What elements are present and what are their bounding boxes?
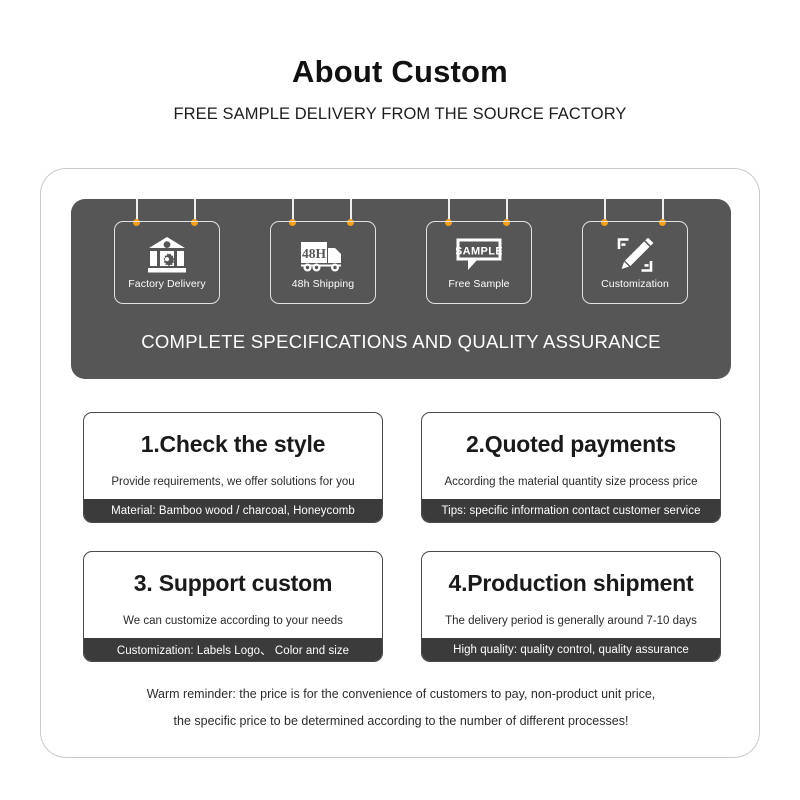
step-card-4[interactable]: 4.Production shipment The delivery perio… bbox=[421, 551, 721, 662]
step-description: The delivery period is generally around … bbox=[422, 608, 720, 638]
factory-building-gear-icon bbox=[144, 234, 190, 276]
feature-label: 48h Shipping bbox=[292, 278, 355, 290]
feature-card: 48H bbox=[270, 221, 376, 304]
step-title: 2.Quoted payments bbox=[422, 413, 720, 469]
step-card-3[interactable]: 3. Support custom We can customize accor… bbox=[83, 551, 383, 662]
feature-card: Customization bbox=[582, 221, 688, 304]
step-description: We can customize according to your needs bbox=[84, 608, 382, 638]
step-title: 4.Production shipment bbox=[422, 552, 720, 608]
svg-text:SAMPLE: SAMPLE bbox=[456, 246, 502, 258]
step-footer: Material: Bamboo wood / charcoal, Honeyc… bbox=[84, 499, 382, 522]
reminder-line-1: Warm reminder: the price is for the conv… bbox=[41, 681, 761, 708]
step-title: 3. Support custom bbox=[84, 552, 382, 608]
about-custom-infographic: About Custom FREE SAMPLE DELIVERY FROM T… bbox=[0, 0, 800, 800]
feature-card: Factory Delivery bbox=[114, 221, 220, 304]
feature-item-factory-delivery: Factory Delivery bbox=[114, 199, 220, 304]
feature-item-free-sample: SAMPLE Free Sample bbox=[426, 199, 532, 304]
reminder-line-2: the specific price to be determined acco… bbox=[41, 708, 761, 735]
banner-tagline: COMPLETE SPECIFICATIONS AND QUALITY ASSU… bbox=[71, 331, 731, 353]
feature-item-customization: Customization bbox=[582, 199, 688, 304]
page-title: About Custom bbox=[0, 54, 800, 90]
step-footer: Tips: specific information contact custo… bbox=[422, 499, 720, 522]
feature-label: Free Sample bbox=[448, 278, 509, 290]
step-card-1[interactable]: 1.Check the style Provide requirements, … bbox=[83, 412, 383, 523]
page-subtitle: FREE SAMPLE DELIVERY FROM THE SOURCE FAC… bbox=[0, 105, 800, 124]
svg-text:48H: 48H bbox=[302, 246, 327, 261]
feature-item-48h-shipping: 48H bbox=[270, 199, 376, 304]
feature-icon-row: Factory Delivery bbox=[71, 199, 731, 317]
steps-grid: 1.Check the style Provide requirements, … bbox=[83, 412, 721, 662]
pencil-ruler-icon bbox=[612, 234, 658, 276]
step-footer: High quality: quality control, quality a… bbox=[422, 638, 720, 661]
delivery-truck-48h-icon: 48H bbox=[300, 234, 346, 276]
step-footer: Customization: Labels Logo、 Color and si… bbox=[84, 638, 382, 661]
feature-label: Factory Delivery bbox=[128, 278, 205, 290]
feature-banner: Factory Delivery bbox=[71, 199, 731, 379]
content-container: Factory Delivery bbox=[40, 168, 760, 758]
step-description: According the material quantity size pro… bbox=[422, 469, 720, 499]
page-header: About Custom FREE SAMPLE DELIVERY FROM T… bbox=[0, 0, 800, 124]
step-card-2[interactable]: 2.Quoted payments According the material… bbox=[421, 412, 721, 523]
feature-card: SAMPLE Free Sample bbox=[426, 221, 532, 304]
feature-label: Customization bbox=[601, 278, 669, 290]
step-description: Provide requirements, we offer solutions… bbox=[84, 469, 382, 499]
warm-reminder: Warm reminder: the price is for the conv… bbox=[41, 681, 761, 735]
sample-speech-bubble-icon: SAMPLE bbox=[456, 234, 502, 276]
step-title: 1.Check the style bbox=[84, 413, 382, 469]
